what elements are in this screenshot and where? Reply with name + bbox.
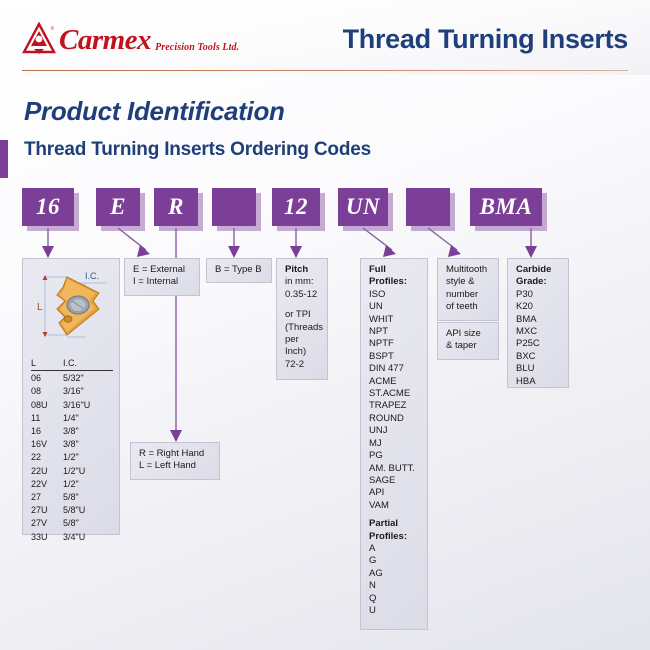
dimension-cell-ic: 3/8": [63, 425, 113, 438]
partial-profile-item: U: [369, 605, 420, 617]
partial-profile-item: Q: [369, 593, 420, 605]
full-profile-item: NPT: [369, 326, 420, 338]
partial-profile-item: N: [369, 580, 420, 592]
full-profile-item: ST.ACME: [369, 388, 420, 400]
dimension-header-l: L: [31, 357, 63, 371]
pitch-range: 0.35-12: [285, 289, 320, 301]
pitch-title: Pitch: [285, 264, 320, 276]
multitooth-line-4: of teeth: [446, 301, 491, 313]
dimension-cell-l: 08U: [31, 399, 63, 412]
svg-text:I.C.: I.C.: [85, 271, 99, 281]
dimension-cell-ic: 3/8": [63, 438, 113, 451]
carbide-title-1: Carbide: [516, 264, 561, 276]
dimension-cell-l: 08: [31, 385, 63, 398]
carbide-grade-item: BLU: [516, 363, 561, 375]
dimension-cell-ic: 1/2": [63, 478, 113, 491]
full-profile-item: ROUND: [369, 413, 420, 425]
carbide-grade-item: MXC: [516, 326, 561, 338]
carbide-grade-item: P30: [516, 289, 561, 301]
dimension-cell-ic: 1/2": [63, 451, 113, 464]
full-profile-item: ISO: [369, 289, 420, 301]
dimension-cell-ic: 5/8"U: [63, 504, 113, 517]
orientation-internal: I = Internal: [133, 276, 192, 288]
dimension-cell-ic: 5/32": [63, 372, 113, 385]
full-profile-item: UNJ: [369, 425, 420, 437]
partial-profile-item: AG: [369, 568, 420, 580]
dimension-cell-ic: 3/16": [63, 385, 113, 398]
dimension-cell-ic: 5/8": [63, 491, 113, 504]
api-size-box: API size & taper: [437, 322, 499, 360]
multitooth-line-1: Multitooth: [446, 264, 491, 276]
multitooth-box: Multitooth style & number of teeth: [437, 258, 499, 321]
pitch-tpi-desc1: (Threads: [285, 322, 320, 334]
pitch-unit: in mm:: [285, 276, 320, 288]
dimension-cell-l: 22V: [31, 478, 63, 491]
full-profiles-title-1: Full: [369, 264, 420, 276]
dimension-cell-l: 27V: [31, 517, 63, 530]
carbide-title-2: Grade:: [516, 276, 561, 288]
dimension-cell-ic: 3/4"U: [63, 531, 113, 544]
partial-profiles-title-1: Partial: [369, 518, 420, 530]
dimension-cell-l: 27: [31, 491, 63, 504]
dimension-table-body: 065/32"083/16"08U3/16"U111/4"163/8"16V3/…: [31, 372, 113, 544]
dimension-row: 27V5/8": [31, 517, 113, 530]
dimension-table-header: L I.C.: [31, 357, 113, 371]
dimension-row: 33U3/4"U: [31, 531, 113, 544]
carbide-grade-list: P30K20BMAMXCP25CBXCBLUHBA: [516, 289, 561, 388]
dimension-cell-ic: 1/2"U: [63, 465, 113, 478]
insert-diagram-icon: L I.C.: [23, 261, 119, 353]
dimension-row: 221/2": [31, 451, 113, 464]
api-size-line-2: & taper: [446, 340, 491, 352]
dimension-cell-l: 16V: [31, 438, 63, 451]
full-profile-item: PG: [369, 450, 420, 462]
api-size-line-1: API size: [446, 328, 491, 340]
full-profile-item: DIN 477: [369, 363, 420, 375]
dimension-row: 22V1/2": [31, 478, 113, 491]
dimension-cell-ic: 3/16"U: [63, 399, 113, 412]
dimension-cell-ic: 5/8": [63, 517, 113, 530]
full-profile-item: AM. BUTT.: [369, 463, 420, 475]
dimension-cell-ic: 1/4": [63, 412, 113, 425]
carbide-grade-item: P25C: [516, 338, 561, 350]
insert-dimension-panel: L I.C. L I.C. 065/32"083/16"08U3/16"U111…: [22, 258, 120, 535]
full-profile-item: VAM: [369, 500, 420, 512]
type-label: B = Type B: [215, 264, 264, 276]
dimension-row: 22U1/2"U: [31, 465, 113, 478]
full-profile-item: MJ: [369, 438, 420, 450]
full-profile-item: SAGE: [369, 475, 420, 487]
dimension-row: 163/8": [31, 425, 113, 438]
carbide-grade-item: K20: [516, 301, 561, 313]
orientation-box: E = External I = Internal: [124, 258, 200, 296]
full-profiles-list: ISOUNWHITNPTNPTFBSPTDIN 477ACMEST.ACMETR…: [369, 289, 420, 512]
partial-profiles-list: AGAGNQU: [369, 543, 420, 617]
orientation-external: E = External: [133, 264, 192, 276]
carbide-grade-item: HBA: [516, 376, 561, 388]
full-profile-item: API: [369, 487, 420, 499]
dimension-cell-l: 27U: [31, 504, 63, 517]
svg-text:L: L: [37, 302, 43, 313]
dimension-cell-l: 22U: [31, 465, 63, 478]
full-profile-item: WHIT: [369, 314, 420, 326]
dimension-cell-l: 11: [31, 412, 63, 425]
product-identification-page: ® Carmex Precision Tools Ltd. Thread Tur…: [0, 0, 650, 650]
dimension-cell-l: 22: [31, 451, 63, 464]
pitch-tpi-desc2: per Inch): [285, 334, 320, 359]
dimension-row: 111/4": [31, 412, 113, 425]
partial-profile-item: G: [369, 555, 420, 567]
carbide-grade-item: BMA: [516, 314, 561, 326]
pitch-tpi-range: 72-2: [285, 359, 320, 371]
dimension-row: 27U5/8"U: [31, 504, 113, 517]
profiles-box: Full Profiles: ISOUNWHITNPTNPTFBSPTDIN 4…: [360, 258, 428, 630]
partial-profiles-title-2: Profiles:: [369, 531, 420, 543]
dimension-table: L I.C. 065/32"083/16"08U3/16"U111/4"163/…: [31, 357, 113, 544]
carbide-grade-box: Carbide Grade: P30K20BMAMXCP25CBXCBLUHBA: [507, 258, 569, 388]
full-profile-item: BSPT: [369, 351, 420, 363]
dimension-header-ic: I.C.: [63, 357, 113, 371]
dimension-cell-l: 16: [31, 425, 63, 438]
dimension-row: 275/8": [31, 491, 113, 504]
dimension-row: 16V3/8": [31, 438, 113, 451]
hand-direction-box: R = Right Hand L = Left Hand: [130, 442, 220, 480]
type-box: B = Type B: [206, 258, 272, 283]
dimension-row: 08U3/16"U: [31, 399, 113, 412]
full-profile-item: TRAPEZ: [369, 400, 420, 412]
full-profile-item: NPTF: [369, 338, 420, 350]
hand-right: R = Right Hand: [139, 448, 212, 460]
dimension-cell-l: 06: [31, 372, 63, 385]
full-profile-item: ACME: [369, 376, 420, 388]
dimension-row: 083/16": [31, 385, 113, 398]
dimension-cell-l: 33U: [31, 531, 63, 544]
carbide-grade-item: BXC: [516, 351, 561, 363]
partial-profile-item: A: [369, 543, 420, 555]
pitch-spacer: [285, 301, 320, 309]
pitch-box: Pitch in mm: 0.35-12 or TPI (Threads per…: [276, 258, 328, 380]
full-profiles-title-2: Profiles:: [369, 276, 420, 288]
hand-left: L = Left Hand: [139, 460, 212, 472]
pitch-tpi-label: or TPI: [285, 309, 320, 321]
dimension-row: 065/32": [31, 372, 113, 385]
multitooth-line-2: style &: [446, 276, 491, 288]
multitooth-line-3: number: [446, 289, 491, 301]
full-profile-item: UN: [369, 301, 420, 313]
